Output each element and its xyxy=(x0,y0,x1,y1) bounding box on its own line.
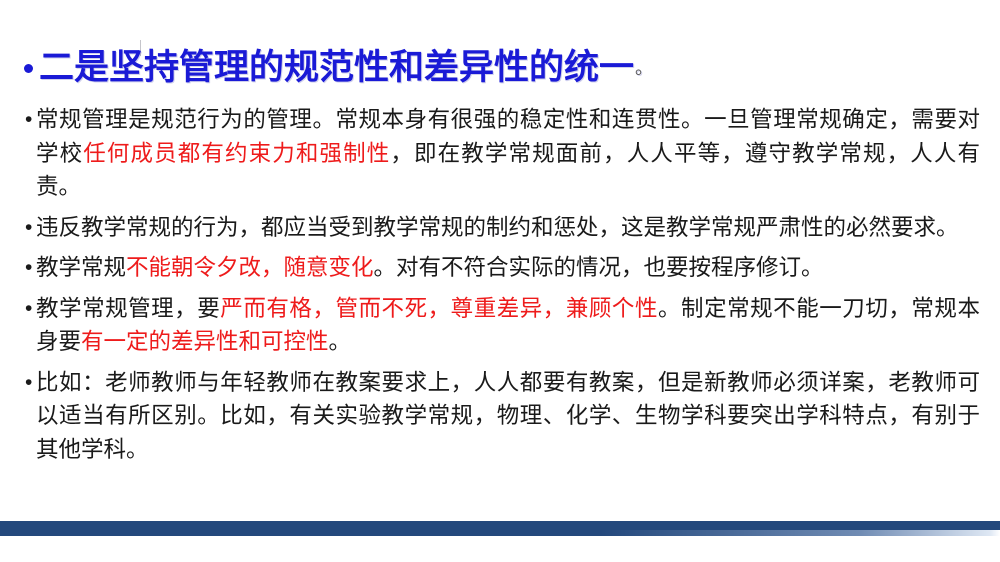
paragraph-1-segment-1-highlight: 任何成员都有约束力和强制性 xyxy=(83,141,390,166)
bullet-icon: • xyxy=(20,292,36,325)
list-item: • 常规管理是规范行为的管理。常规本身有很强的稳定性和连贯性。一旦管理常规确定，… xyxy=(20,103,980,204)
title-text: 二是坚持管理的规范性和差异性的统一。 xyxy=(39,47,653,89)
bullet-icon: • xyxy=(20,103,36,136)
slide-title: 二是坚持管理的规范性和差异性的统一。 xyxy=(24,47,980,89)
paragraph-4-segment-0: 教学常规管理，要 xyxy=(36,296,220,321)
paragraph-2-text: 违反教学常规的行为，都应当受到教学常规的制约和惩处，这是教学常规严肃性的必然要求… xyxy=(36,211,980,245)
bullet-icon: • xyxy=(20,251,36,284)
paragraph-3-segment-0: 教学常规 xyxy=(36,255,126,280)
slide-canvas: 二是坚持管理的规范性和差异性的统一。 • 常规管理是规范行为的管理。常规本身有很… xyxy=(0,0,1000,562)
bullet-icon: • xyxy=(20,211,36,244)
list-item: • 教学常规管理，要严而有格，管而不死，尊重差异，兼顾个性。制定常规不能一刀切，… xyxy=(20,292,980,359)
paragraph-4-text: 教学常规管理，要严而有格，管而不死，尊重差异，兼顾个性。制定常规不能一刀切，常规… xyxy=(36,292,980,359)
title-trailing-punctuation: 。 xyxy=(635,58,653,78)
paragraph-3-text: 教学常规不能朝令夕改，随意变化。对有不符合实际的情况，也要按程序修订。 xyxy=(36,251,980,285)
body-content: • 常规管理是规范行为的管理。常规本身有很强的稳定性和连贯性。一旦管理常规确定，… xyxy=(20,103,980,473)
list-item: • 违反教学常规的行为，都应当受到教学常规的制约和惩处，这是教学常规严肃性的必然… xyxy=(20,211,980,245)
footer-white-strip xyxy=(0,536,1000,562)
paragraph-3-segment-2: 。对有不符合实际的情况，也要按程序修订。 xyxy=(374,255,824,280)
list-item: • 教学常规不能朝令夕改，随意变化。对有不符合实际的情况，也要按程序修订。 xyxy=(20,251,980,285)
bullet-icon: • xyxy=(20,366,36,399)
paragraph-1-text: 常规管理是规范行为的管理。常规本身有很强的稳定性和连贯性。一旦管理常规确定，需要… xyxy=(36,103,980,204)
list-item: • 比如：老师教师与年轻教师在教案要求上，人人都要有教案，但是新教师必须详案，老… xyxy=(20,366,980,467)
paragraph-3-segment-1-highlight: 不能朝令夕改，随意变化 xyxy=(126,255,374,280)
footer-band xyxy=(0,521,1000,536)
paragraph-2-segment-0: 违反教学常规的行为，都应当受到教学常规的制约和惩处，这是教学常规严肃性的必然要求… xyxy=(36,215,959,240)
paragraph-5-text: 比如：老师教师与年轻教师在教案要求上，人人都要有教案，但是新教师必须详案，老教师… xyxy=(36,366,980,467)
title-bullet-icon xyxy=(24,64,33,73)
paragraph-4-segment-3-highlight: 有一定的差异性和可控性 xyxy=(81,329,329,354)
paragraph-5-segment-0: 比如：老师教师与年轻教师在教案要求上，人人都要有教案，但是新教师必须详案，老教师… xyxy=(36,370,980,462)
title-text-main: 二是坚持管理的规范性和差异性的统一 xyxy=(39,48,634,87)
paragraph-4-segment-1-highlight: 严而有格，管而不死，尊重差异，兼顾个性 xyxy=(220,296,658,321)
paragraph-4-segment-4: 。 xyxy=(329,329,352,354)
